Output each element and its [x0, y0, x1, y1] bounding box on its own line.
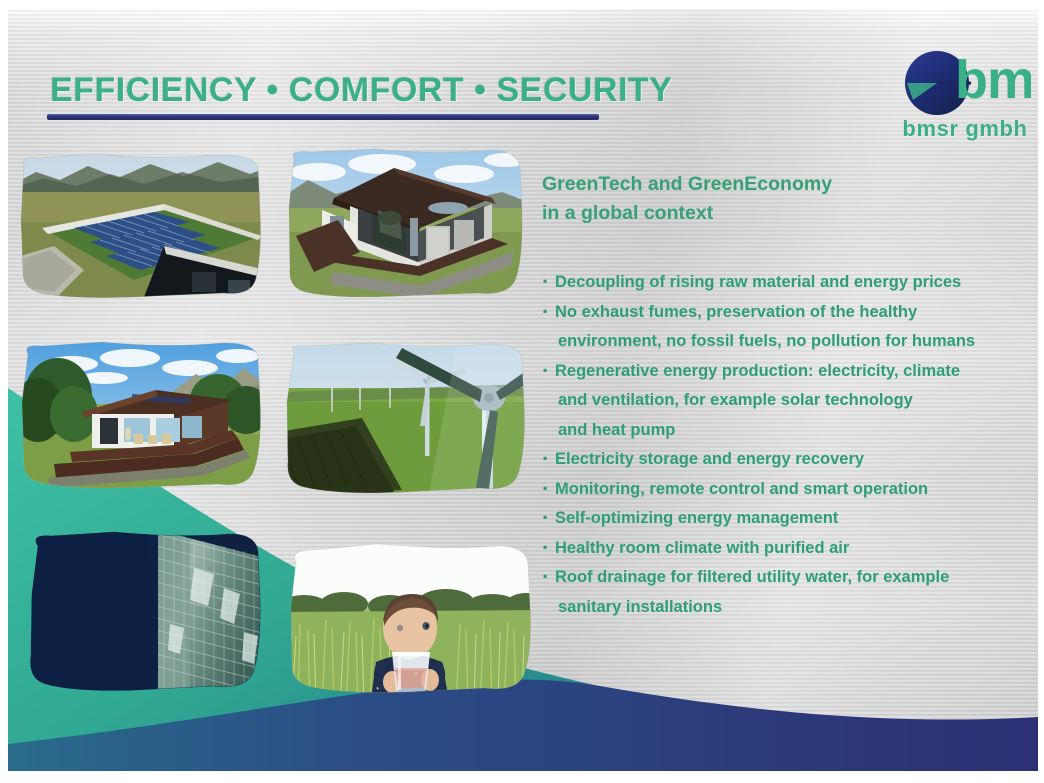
- bullet-item: Regenerative energy production: electric…: [542, 357, 1044, 446]
- subheading: GreenTech and GreenEconomy in a global c…: [542, 170, 1042, 228]
- bullet-item: Self-optimizing energy management: [542, 504, 1044, 534]
- bullet-line: and ventilation, for example solar techn…: [555, 386, 1044, 416]
- bullet-item: Electricity storage and energy recovery: [542, 445, 1044, 475]
- bullet-line: sanitary installations: [555, 593, 1044, 623]
- bullet-item: Decoupling of rising raw material and en…: [542, 268, 1044, 298]
- bullet-line: No exhaust fumes, preservation of the he…: [555, 303, 917, 321]
- bullet-line: Monitoring, remote control and smart ope…: [555, 480, 928, 498]
- bullet-line: Electricity storage and energy recovery: [555, 450, 864, 468]
- bullet-line: Healthy room climate with purified air: [555, 539, 849, 557]
- bullet-item: Monitoring, remote control and smart ope…: [542, 475, 1044, 505]
- bullet-line: Decoupling of rising raw material and en…: [555, 273, 961, 291]
- bullet-line: and heat pump: [555, 416, 1044, 446]
- photo-child-drinking[interactable]: [278, 536, 540, 706]
- bmsr-logo-subtitle: bmsr gmbh: [899, 116, 1031, 142]
- photo-technical-building[interactable]: [278, 146, 528, 302]
- bmsr-logo[interactable]: bmsr bmsr gmbh: [899, 38, 1031, 146]
- bullet-line: Self-optimizing energy management: [555, 509, 838, 527]
- subheading-line-2: in a global context: [542, 199, 1042, 228]
- bullet-item: Roof drainage for filtered utility water…: [542, 563, 1044, 622]
- bullet-line: Regenerative energy production: electric…: [555, 362, 960, 380]
- svg-text:bmsr: bmsr: [955, 50, 1031, 110]
- photo-glass-tower[interactable]: [18, 528, 266, 698]
- photo-solar-roof[interactable]: [14, 150, 266, 302]
- slide-root: EFFICIENCY • COMFORT • SECURITY bmsr bms…: [0, 0, 1044, 783]
- title-underline: [47, 114, 599, 120]
- photo-modern-house[interactable]: [14, 338, 266, 494]
- subheading-line-1: GreenTech and GreenEconomy: [542, 170, 1042, 199]
- bullet-line: Roof drainage for filtered utility water…: [555, 568, 949, 586]
- bullet-item: Healthy room climate with purified air: [542, 534, 1044, 564]
- bmsr-logo-mark-icon: bmsr: [899, 38, 1031, 116]
- page-title: EFFICIENCY • COMFORT • SECURITY: [50, 71, 672, 110]
- bullet-list: Decoupling of rising raw material and en…: [542, 268, 1044, 622]
- photo-wind-turbines[interactable]: [278, 340, 530, 498]
- bullet-item: No exhaust fumes, preservation of the he…: [542, 298, 1044, 357]
- bullet-line: environment, no fossil fuels, no polluti…: [555, 327, 1044, 357]
